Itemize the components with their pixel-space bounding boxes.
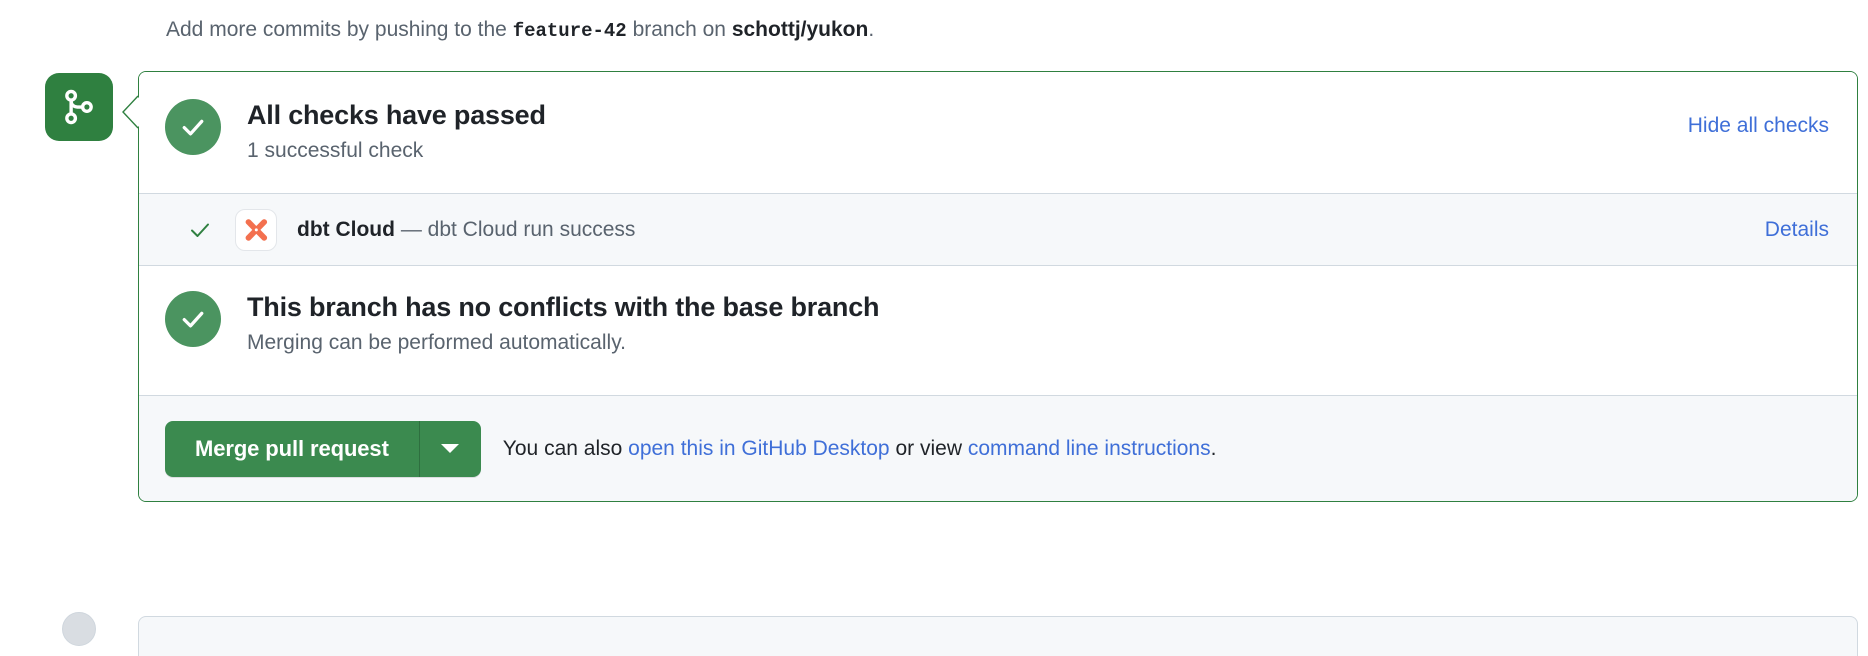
- helper-note-prefix: You can also: [503, 437, 623, 460]
- helper-note-middle: or view: [895, 437, 962, 460]
- command-line-instructions-link[interactable]: command line instructions: [968, 437, 1211, 460]
- checks-title: All checks have passed: [247, 98, 1688, 132]
- github-desktop-link[interactable]: open this in GitHub Desktop: [628, 437, 889, 460]
- checks-subtitle: 1 successful check: [247, 136, 1688, 166]
- check-app-name: dbt Cloud: [297, 218, 395, 241]
- check-circle-icon: [165, 291, 221, 347]
- chevron-down-icon: [441, 444, 459, 453]
- branch-name: feature-42: [513, 20, 627, 42]
- merge-action-footer: Merge pull request You can also open thi…: [139, 396, 1857, 501]
- avatar: [62, 612, 96, 646]
- push-commits-note: Add more commits by pushing to the featu…: [166, 16, 874, 45]
- push-note-prefix: Add more commits by pushing to the: [166, 18, 507, 41]
- merge-pull-request-button[interactable]: Merge pull request: [165, 421, 419, 477]
- git-merge-icon: [61, 89, 97, 125]
- repo-name: schottj/yukon: [732, 18, 869, 41]
- merge-button-group: Merge pull request: [165, 421, 481, 477]
- check-row-label: dbt Cloud — dbt Cloud run success: [297, 216, 635, 244]
- check-separator: —: [401, 218, 422, 241]
- conflicts-text: This branch has no conflicts with the ba…: [247, 290, 1829, 358]
- checks-header-text: All checks have passed 1 successful chec…: [247, 98, 1688, 166]
- conflicts-title: This branch has no conflicts with the ba…: [247, 290, 1829, 324]
- check-circle-icon: [165, 99, 221, 155]
- helper-note-suffix: .: [1211, 437, 1217, 460]
- conflicts-section: This branch has no conflicts with the ba…: [139, 266, 1857, 396]
- check-row[interactable]: dbt Cloud — dbt Cloud run success Detail…: [139, 194, 1857, 266]
- hide-all-checks-link[interactable]: Hide all checks: [1688, 112, 1829, 140]
- timeline-merge-badge: [45, 73, 113, 141]
- callout-notch-icon: [120, 95, 140, 129]
- check-icon: [187, 217, 213, 243]
- next-timeline-item: [138, 616, 1858, 656]
- checks-header: All checks have passed 1 successful chec…: [139, 72, 1857, 194]
- merge-helper-note: You can also open this in GitHub Desktop…: [503, 435, 1217, 463]
- push-note-suffix: .: [868, 18, 874, 41]
- merge-options-dropdown-button[interactable]: [419, 421, 481, 477]
- dbt-cloud-icon: [235, 209, 277, 251]
- check-details-link[interactable]: Details: [1765, 216, 1829, 244]
- merge-status-box: All checks have passed 1 successful chec…: [138, 71, 1858, 502]
- push-note-middle: branch on: [633, 18, 726, 41]
- conflicts-subtitle: Merging can be performed automatically.: [247, 328, 1829, 358]
- check-description: dbt Cloud run success: [428, 218, 636, 241]
